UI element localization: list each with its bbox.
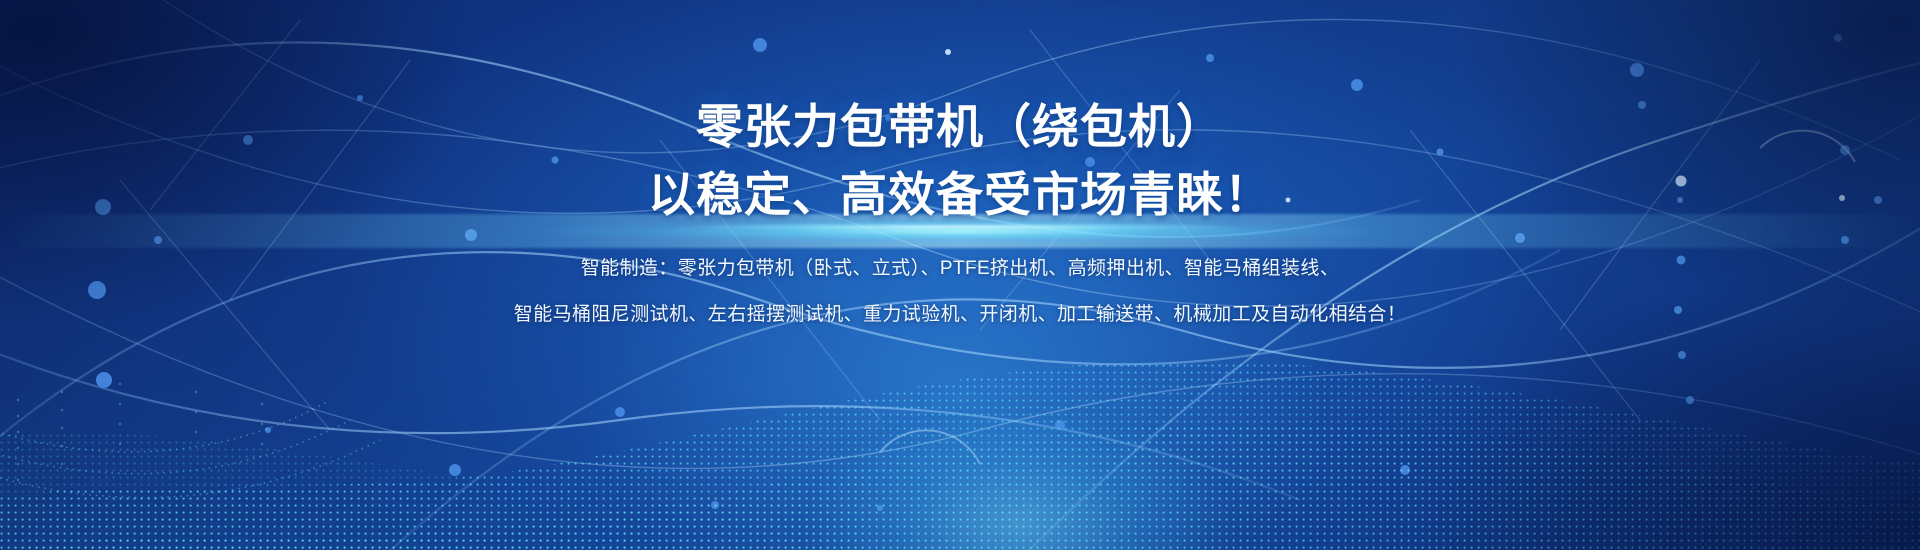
cyan-hotspot-glow [720, 360, 1320, 550]
dotted-ribbon [0, 400, 380, 498]
dotted-streamers [17, 383, 263, 481]
subtitle-line-2: 智能马桶阻尼测试机、左右摇摆测试机、重力试验机、开闭机、加工输送带、机械加工及自… [0, 289, 1920, 335]
promo-banner: 零张力包带机（绕包机） 以稳定、高效备受市场青睐！ 智能制造：零张力包带机（卧式… [0, 0, 1920, 550]
banner-content: 零张力包带机（绕包机） 以稳定、高效备受市场青睐！ 智能制造：零张力包带机（卧式… [0, 0, 1920, 335]
headline-line-2: 以稳定、高效备受市场青睐！ [0, 157, 1920, 225]
headline-line-1: 零张力包带机（绕包机） [0, 0, 1920, 157]
subtitle-line-1: 智能制造：零张力包带机（卧式、立式）、PTFE挤出机、高频押出机、智能马桶组装线… [0, 225, 1920, 289]
